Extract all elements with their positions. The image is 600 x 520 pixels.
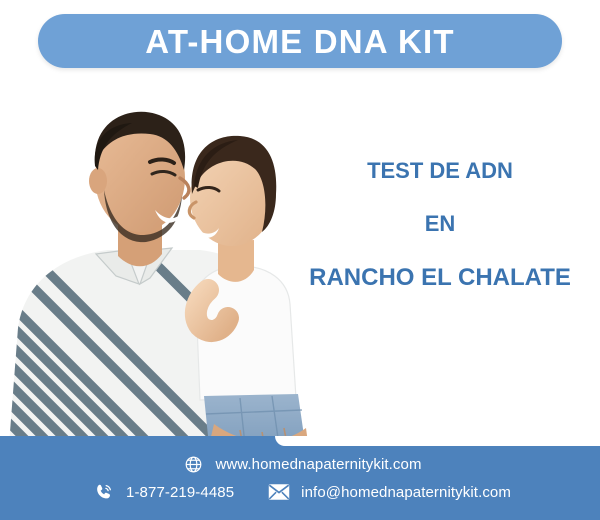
globe-icon <box>182 453 204 475</box>
footer-row-website: www.homednapaternitykit.com <box>182 453 421 475</box>
phone-text: 1-877-219-4485 <box>126 484 234 501</box>
headline-line-1: TEST DE ADN <box>290 160 590 182</box>
headline-line-3: RANCHO EL CHALATE <box>290 266 590 290</box>
phone-icon <box>93 481 115 503</box>
title-banner: AT-HOME DNA KIT <box>38 14 562 68</box>
man-ear <box>89 168 107 194</box>
headline-block: TEST DE ADN EN RANCHO EL CHALATE <box>290 160 590 290</box>
contact-phone[interactable]: 1-877-219-4485 <box>93 481 234 503</box>
footer-row-phone-email: 1-877-219-4485 info@homednapaternitykit.… <box>93 481 511 503</box>
poster-canvas: AT-HOME DNA KIT <box>0 0 600 520</box>
hero-photo <box>0 78 330 458</box>
footer-contact-block: www.homednapaternitykit.com 1-877-219-44… <box>0 436 600 520</box>
email-text: info@homednapaternitykit.com <box>301 484 511 501</box>
page-title: AT-HOME DNA KIT <box>145 25 454 58</box>
headline-line-2: EN <box>290 213 590 235</box>
contact-email[interactable]: info@homednapaternitykit.com <box>268 481 511 503</box>
contact-website[interactable]: www.homednapaternitykit.com <box>182 453 421 475</box>
envelope-icon <box>268 481 290 503</box>
website-text: www.homednapaternitykit.com <box>215 456 421 473</box>
father-and-child-illustration <box>0 78 330 458</box>
child-neck <box>218 240 254 282</box>
